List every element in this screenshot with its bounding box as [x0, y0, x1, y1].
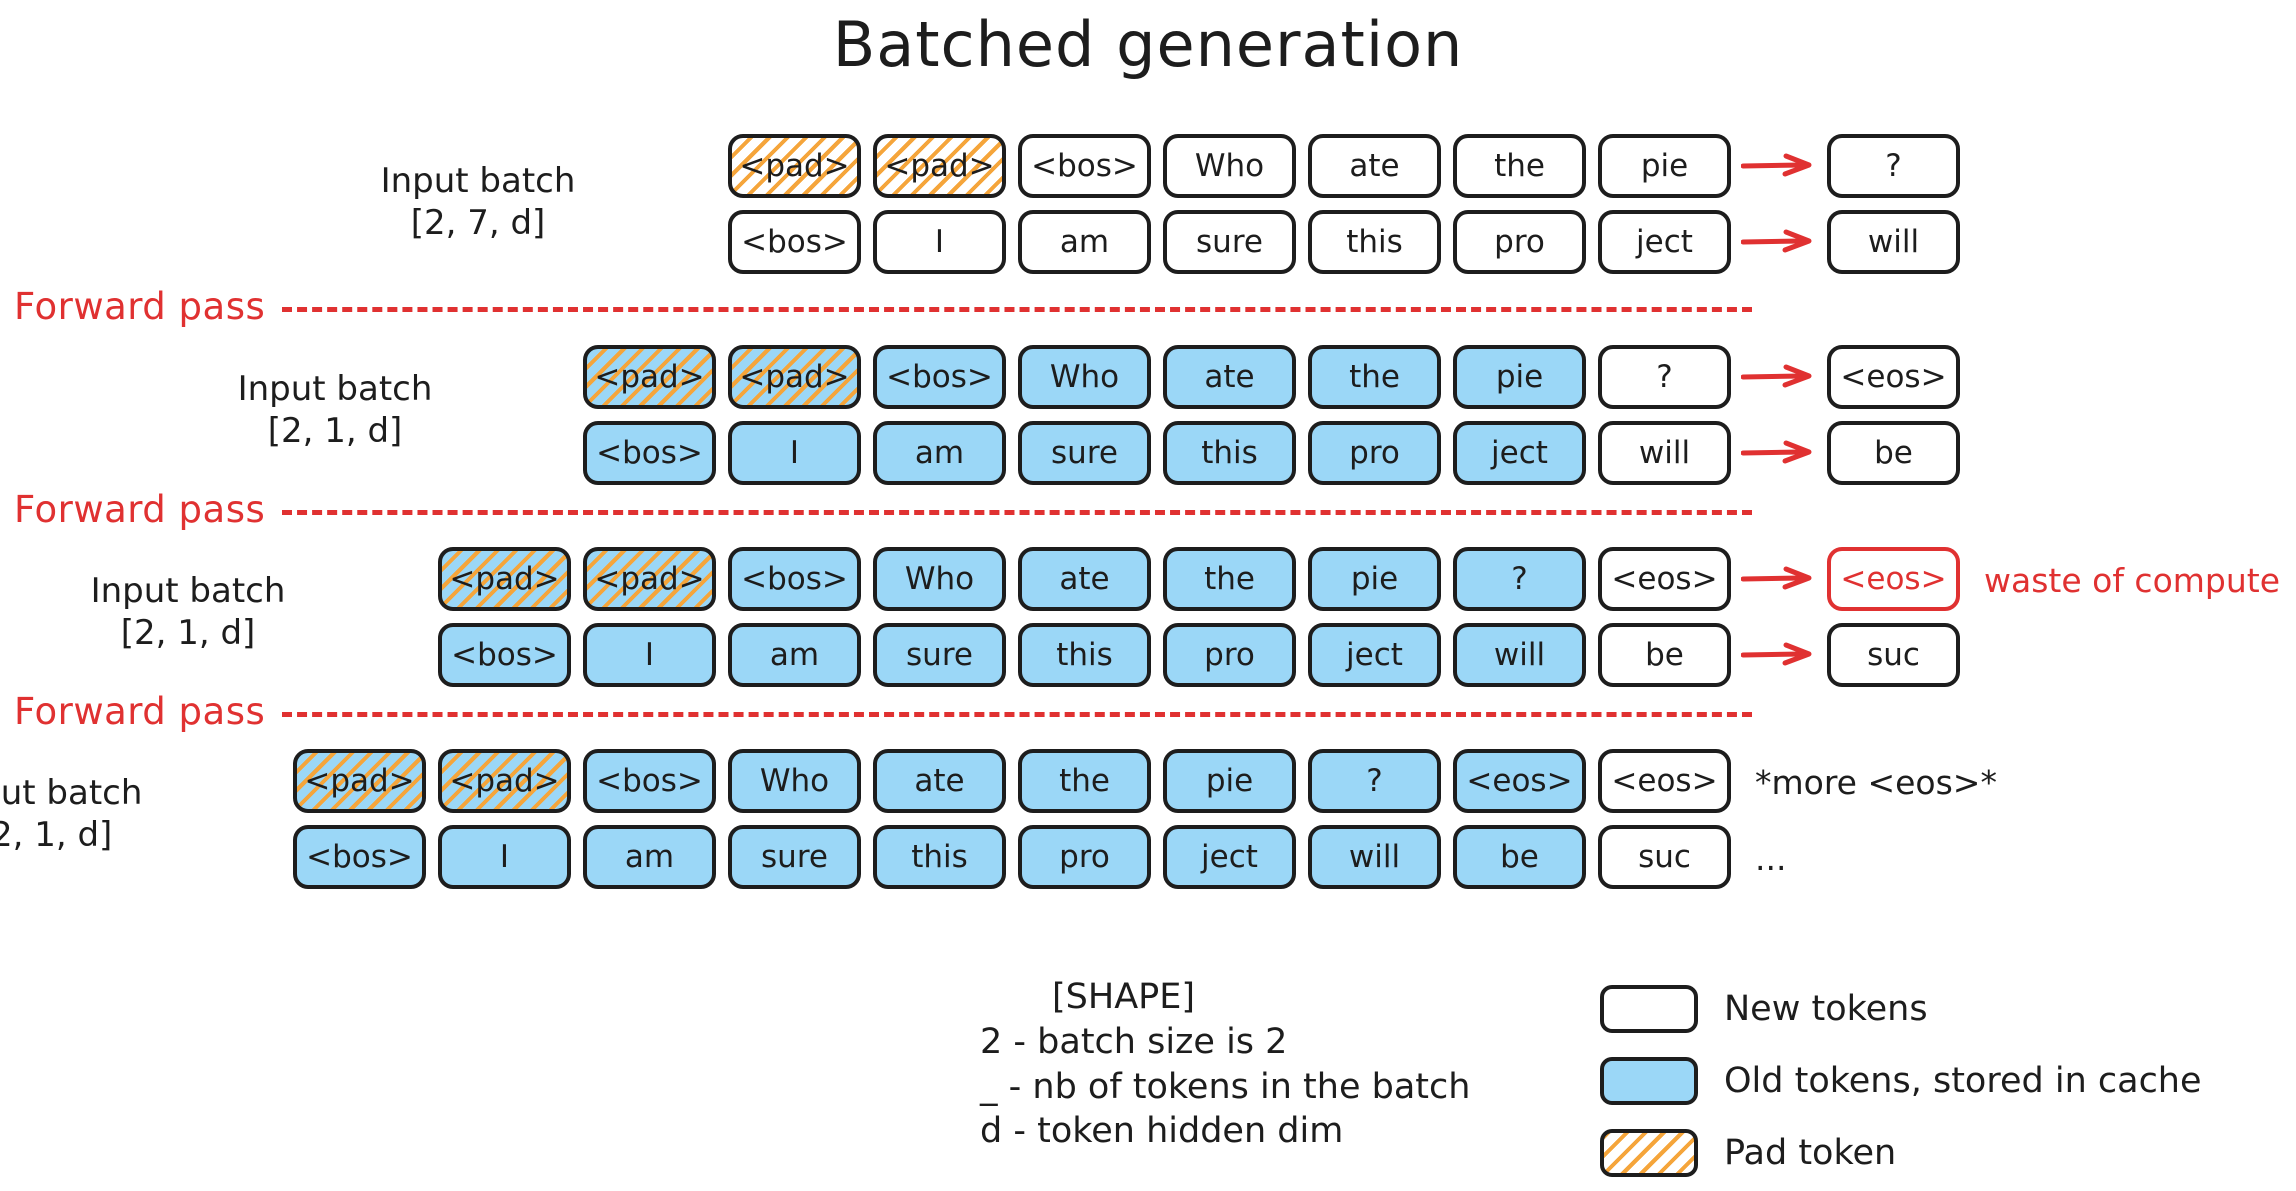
token-text: this: [1056, 637, 1113, 673]
token-text: pie: [1206, 763, 1253, 799]
output-token-box: <eos>: [1827, 547, 1960, 611]
token-box: pro: [1018, 825, 1151, 889]
token-box: <pad>: [583, 547, 716, 611]
output-token-box: suc: [1827, 623, 1960, 687]
token-text: this: [1201, 435, 1258, 471]
generation-arrow-icon: [1741, 345, 1819, 409]
forward-pass-dashed-line: [282, 510, 1752, 515]
token-box: <bos>: [438, 623, 571, 687]
token-text: <bos>: [596, 763, 703, 799]
token-text: be: [1500, 839, 1539, 875]
token-box: the: [1018, 749, 1151, 813]
annotation-note: *more <eos>*: [1755, 763, 1997, 802]
token-text: ject: [1201, 839, 1258, 875]
token-box: this: [1163, 421, 1296, 485]
token-box: I: [583, 623, 716, 687]
token-box: am: [728, 623, 861, 687]
token-text: <bos>: [451, 637, 558, 673]
token-text: <pad>: [304, 763, 414, 799]
swatch-pad-token: [1600, 1129, 1698, 1177]
token-text: Who: [1050, 359, 1119, 395]
token-box: this: [1308, 210, 1441, 274]
token-text: pie: [1496, 359, 1543, 395]
token-box: <pad>: [728, 134, 861, 198]
token-box: pie: [1308, 547, 1441, 611]
token-box: ate: [1308, 134, 1441, 198]
token-box: be: [1598, 623, 1731, 687]
token-box: ate: [1163, 345, 1296, 409]
token-text: am: [1060, 224, 1109, 260]
token-text: pie: [1641, 148, 1688, 184]
token-box: ate: [873, 749, 1006, 813]
output-token-text: will: [1868, 224, 1919, 260]
token-box: <bos>: [583, 421, 716, 485]
token-text: pro: [1349, 435, 1400, 471]
shape-legend-line-tokens: _ - nb of tokens in the batch: [980, 1067, 1470, 1107]
token-text: <bos>: [741, 224, 848, 260]
token-box: be: [1453, 825, 1586, 889]
token-text: the: [1494, 148, 1545, 184]
token-box: <eos>: [1598, 547, 1731, 611]
output-token-box: ?: [1827, 134, 1960, 198]
token-text: <pad>: [884, 148, 994, 184]
token-text: ate: [914, 763, 964, 799]
token-box: pie: [1163, 749, 1296, 813]
token-text: pro: [1059, 839, 1110, 875]
token-box: <bos>: [583, 749, 716, 813]
input-batch-shape-text: [2, 1, d]: [0, 814, 165, 856]
token-text: sure: [1051, 435, 1118, 471]
swatch-new-token: [1600, 985, 1698, 1033]
token-text: this: [1346, 224, 1403, 260]
output-token-box: be: [1827, 421, 1960, 485]
input-batch-label: Input batch[2, 1, d]: [68, 570, 308, 654]
key-legend-label: Old tokens, stored in cache: [1724, 1061, 2202, 1101]
token-box: will: [1453, 623, 1586, 687]
generation-arrow-icon: [1741, 210, 1819, 274]
token-text: ject: [1346, 637, 1403, 673]
token-text: <pad>: [594, 359, 704, 395]
token-text: will: [1349, 839, 1400, 875]
forward-pass-label: Forward pass: [14, 690, 265, 733]
token-text: will: [1494, 637, 1545, 673]
token-box: am: [873, 421, 1006, 485]
sequence-row-2: <bos>Iamsurethisprojectwillbe: [583, 421, 2183, 487]
annotation-note: ...: [1755, 839, 1786, 878]
token-text: I: [935, 224, 944, 260]
input-batch-label: Input batch[2, 7, d]: [358, 160, 598, 244]
output-token-text: <eos>: [1840, 561, 1946, 597]
token-box: <pad>: [728, 345, 861, 409]
token-box: <bos>: [873, 345, 1006, 409]
forward-pass-separator-2: Forward pass: [0, 488, 2296, 532]
token-box: the: [1308, 345, 1441, 409]
generation-arrow-icon: [1741, 623, 1819, 687]
token-box: Who: [1018, 345, 1151, 409]
swatch-cached-token: [1600, 1057, 1698, 1105]
token-box: ject: [1453, 421, 1586, 485]
token-text: ject: [1491, 435, 1548, 471]
token-box: this: [873, 825, 1006, 889]
token-box: will: [1308, 825, 1441, 889]
token-box: I: [728, 421, 861, 485]
token-box: pro: [1308, 421, 1441, 485]
token-text: this: [911, 839, 968, 875]
key-legend: New tokens Old tokens, stored in cache P…: [1600, 975, 2202, 1191]
key-legend-row-cached: Old tokens, stored in cache: [1600, 1047, 2202, 1115]
output-token-text: <eos>: [1840, 359, 1946, 395]
forward-pass-label: Forward pass: [14, 488, 265, 531]
sequence-row-1: <pad><pad><bos>Whoatethepie?: [728, 134, 2296, 200]
sequence-row-2: <bos>Iamsurethisprojectwillbesuc...: [293, 825, 1893, 891]
token-box: ject: [1308, 623, 1441, 687]
token-box: <pad>: [873, 134, 1006, 198]
token-text: the: [1059, 763, 1110, 799]
annotation-note: waste of compute: [1984, 561, 2280, 600]
input-batch-shape-text: [2, 1, d]: [68, 612, 308, 654]
token-box: <bos>: [728, 210, 861, 274]
sequence-row-1: <pad><pad><bos>Whoatethepie?<eos><eos>*m…: [293, 749, 1893, 815]
key-legend-label: Pad token: [1724, 1133, 1896, 1173]
token-box: ject: [1598, 210, 1731, 274]
token-text: Who: [760, 763, 829, 799]
arrow-icon-svg: [1741, 151, 1819, 181]
output-token-box: will: [1827, 210, 1960, 274]
token-box: Who: [728, 749, 861, 813]
token-box: <eos>: [1453, 749, 1586, 813]
token-text: <eos>: [1611, 561, 1717, 597]
token-box: ?: [1598, 345, 1731, 409]
token-text: suc: [1638, 839, 1691, 875]
input-batch-shape-text: [2, 7, d]: [358, 202, 598, 244]
shape-legend: [SHAPE] 2 - batch size is 2 _ - nb of to…: [980, 975, 1470, 1154]
token-text: I: [790, 435, 799, 471]
token-box: am: [1018, 210, 1151, 274]
input-batch-label-text: Input batch: [215, 368, 455, 410]
token-text: I: [645, 637, 654, 673]
token-text: be: [1645, 637, 1684, 673]
token-box: ?: [1453, 547, 1586, 611]
token-text: <pad>: [739, 148, 849, 184]
token-text: <bos>: [596, 435, 703, 471]
token-box: I: [438, 825, 571, 889]
forward-pass-label: Forward pass: [14, 285, 265, 328]
token-box: pro: [1163, 623, 1296, 687]
token-text: <eos>: [1466, 763, 1572, 799]
input-batch-label: Input batch[2, 1, d]: [215, 368, 455, 452]
sequence-row-2: <bos>Iamsurethisprojectwill: [728, 210, 2296, 276]
arrow-icon-svg: [1741, 640, 1819, 670]
token-text: ?: [1366, 763, 1382, 799]
token-box: sure: [728, 825, 861, 889]
token-text: sure: [761, 839, 828, 875]
token-text: pro: [1494, 224, 1545, 260]
token-text: ?: [1656, 359, 1672, 395]
generation-arrow-icon: [1741, 134, 1819, 198]
token-text: Who: [1195, 148, 1264, 184]
token-box: will: [1598, 421, 1731, 485]
token-box: ject: [1163, 825, 1296, 889]
token-text: sure: [906, 637, 973, 673]
token-text: <bos>: [1031, 148, 1138, 184]
input-batch-label: Input batch[2, 1, d]: [0, 772, 165, 856]
key-legend-row-pad: Pad token: [1600, 1119, 2202, 1187]
input-batch-label-text: Input batch: [358, 160, 598, 202]
token-box: pro: [1453, 210, 1586, 274]
token-box: <bos>: [728, 547, 861, 611]
input-batch-shape-text: [2, 1, d]: [215, 410, 455, 452]
key-legend-row-new: New tokens: [1600, 975, 2202, 1043]
arrow-icon-svg: [1741, 564, 1819, 594]
generation-arrow-icon: [1741, 547, 1819, 611]
token-text: ate: [1349, 148, 1399, 184]
token-text: am: [915, 435, 964, 471]
token-text: <pad>: [449, 561, 559, 597]
sequence-row-1: <pad><pad><bos>Whoatethepie?<eos>: [583, 345, 2183, 411]
token-box: ate: [1018, 547, 1151, 611]
token-box: suc: [1598, 825, 1731, 889]
token-box: sure: [873, 623, 1006, 687]
token-text: <eos>: [1611, 763, 1717, 799]
token-text: pro: [1204, 637, 1255, 673]
generation-arrow-icon: [1741, 421, 1819, 485]
token-text: ate: [1059, 561, 1109, 597]
token-text: ?: [1511, 561, 1527, 597]
forward-pass-separator-3: Forward pass: [0, 690, 2296, 734]
token-text: I: [500, 839, 509, 875]
token-text: <bos>: [741, 561, 848, 597]
token-box: <pad>: [583, 345, 716, 409]
token-box: I: [873, 210, 1006, 274]
token-box: <pad>: [293, 749, 426, 813]
key-legend-label: New tokens: [1724, 989, 1928, 1029]
sequence-row-2: <bos>Iamsurethisprojectwillbesuc: [438, 623, 2038, 689]
token-box: <eos>: [1598, 749, 1731, 813]
input-batch-label-text: Input batch: [68, 570, 308, 612]
token-text: <bos>: [306, 839, 413, 875]
token-box: ?: [1308, 749, 1441, 813]
token-text: <bos>: [886, 359, 993, 395]
token-text: the: [1204, 561, 1255, 597]
token-box: <bos>: [293, 825, 426, 889]
shape-legend-line-dim: d - token hidden dim: [980, 1111, 1343, 1151]
token-box: the: [1453, 134, 1586, 198]
token-text: sure: [1196, 224, 1263, 260]
token-box: sure: [1163, 210, 1296, 274]
page-title: Batched generation: [0, 8, 2296, 81]
forward-pass-separator-1: Forward pass: [0, 285, 2296, 329]
token-box: <pad>: [438, 547, 571, 611]
token-text: <pad>: [594, 561, 704, 597]
sequence-row-1: <pad><pad><bos>Whoatethepie?<eos><eos>wa…: [438, 547, 2038, 613]
token-text: am: [770, 637, 819, 673]
arrow-icon-svg: [1741, 362, 1819, 392]
token-text: <pad>: [449, 763, 559, 799]
forward-pass-dashed-line: [282, 712, 1752, 717]
token-box: the: [1163, 547, 1296, 611]
arrow-icon-svg: [1741, 227, 1819, 257]
token-text: will: [1639, 435, 1690, 471]
output-token-box: <eos>: [1827, 345, 1960, 409]
token-box: am: [583, 825, 716, 889]
token-box: pie: [1453, 345, 1586, 409]
token-text: am: [625, 839, 674, 875]
token-text: <pad>: [739, 359, 849, 395]
arrow-icon-svg: [1741, 438, 1819, 468]
token-text: the: [1349, 359, 1400, 395]
token-text: pie: [1351, 561, 1398, 597]
output-token-text: be: [1874, 435, 1913, 471]
token-box: <bos>: [1018, 134, 1151, 198]
token-text: ject: [1636, 224, 1693, 260]
output-token-text: ?: [1885, 148, 1901, 184]
output-token-text: suc: [1867, 637, 1920, 673]
token-box: pie: [1598, 134, 1731, 198]
shape-legend-title: [SHAPE]: [980, 975, 1470, 1020]
token-box: <pad>: [438, 749, 571, 813]
token-box: Who: [873, 547, 1006, 611]
forward-pass-dashed-line: [282, 307, 1752, 312]
shape-legend-line-batch: 2 - batch size is 2: [980, 1022, 1287, 1062]
token-box: this: [1018, 623, 1151, 687]
token-box: sure: [1018, 421, 1151, 485]
input-batch-label-text: Input batch: [0, 772, 165, 814]
token-text: ate: [1204, 359, 1254, 395]
token-box: Who: [1163, 134, 1296, 198]
token-text: Who: [905, 561, 974, 597]
